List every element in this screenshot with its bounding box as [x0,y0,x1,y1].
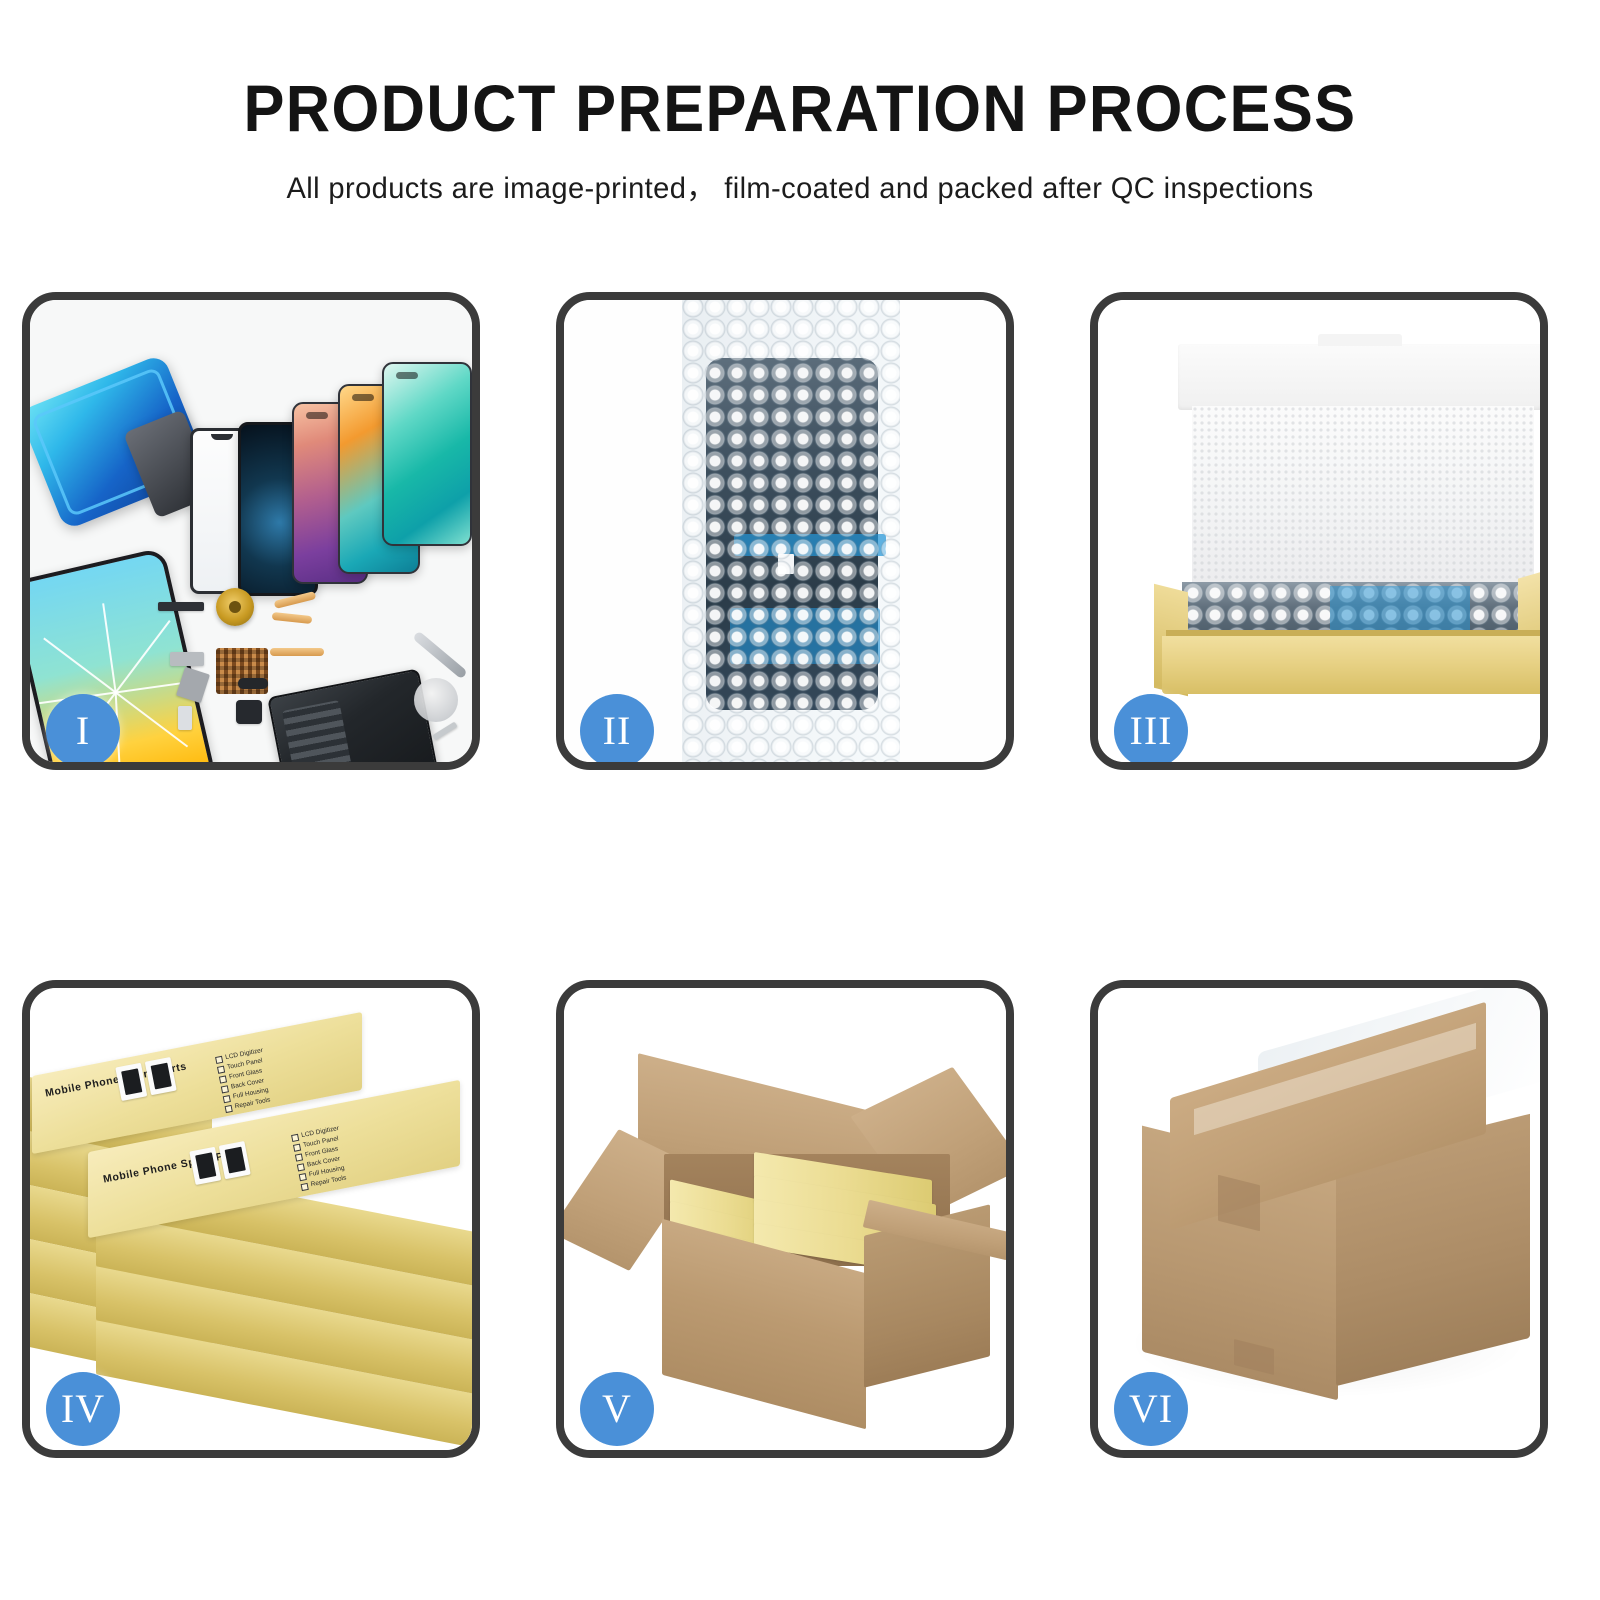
sim-tray-part [178,706,192,730]
cleaning-brush-tool [414,678,458,722]
camera-module-part [236,700,262,724]
open-mailer-box-image [1098,300,1540,762]
foam-insert [1192,406,1534,586]
step-badge-6: VI [1114,1372,1188,1446]
connector-part-a [170,652,204,666]
button-part [238,678,268,689]
step-badge-3: III [1114,694,1188,768]
phone-green-display [382,362,472,546]
mailer-box-front [1162,636,1540,694]
wireless-charging-coil-part [216,588,254,626]
process-step-grid: I II [22,292,1588,1458]
phone-parts-collage-image [30,300,472,762]
bubble-wrap-bag [682,300,900,762]
page-subtitle: All products are image-printed， film-coa… [24,163,1576,207]
page-title: PRODUCT PREPARATION PROCESS [56,74,1544,143]
step-badge-2: II [580,694,654,768]
page-header: PRODUCT PREPARATION PROCESS All products… [0,0,1600,207]
flex-cable-part-b [272,612,313,624]
process-step-panel-5[interactable]: V [556,980,1014,1458]
bubble-wrapped-screen-image [564,300,1006,762]
mailer-box-lid [1178,344,1540,410]
process-step-panel-2[interactable]: II [556,292,1014,770]
flex-cable-part-c [270,648,324,656]
process-step-panel-1[interactable]: I [22,292,480,770]
speaker-part [158,602,204,611]
step-badge-4: IV [46,1372,120,1446]
step-badge-5: V [580,1372,654,1446]
process-step-panel-6[interactable]: VI [1090,980,1548,1458]
process-step-panel-4[interactable]: Mobile Phone Spare Parts LCD Digitizer T… [22,980,480,1458]
repair-tweezers-tool [412,631,467,680]
battery-back-housing-part [267,668,439,762]
step-badge-1: I [46,694,120,768]
process-step-panel-3[interactable]: III [1090,292,1548,770]
screws-part [432,722,457,741]
